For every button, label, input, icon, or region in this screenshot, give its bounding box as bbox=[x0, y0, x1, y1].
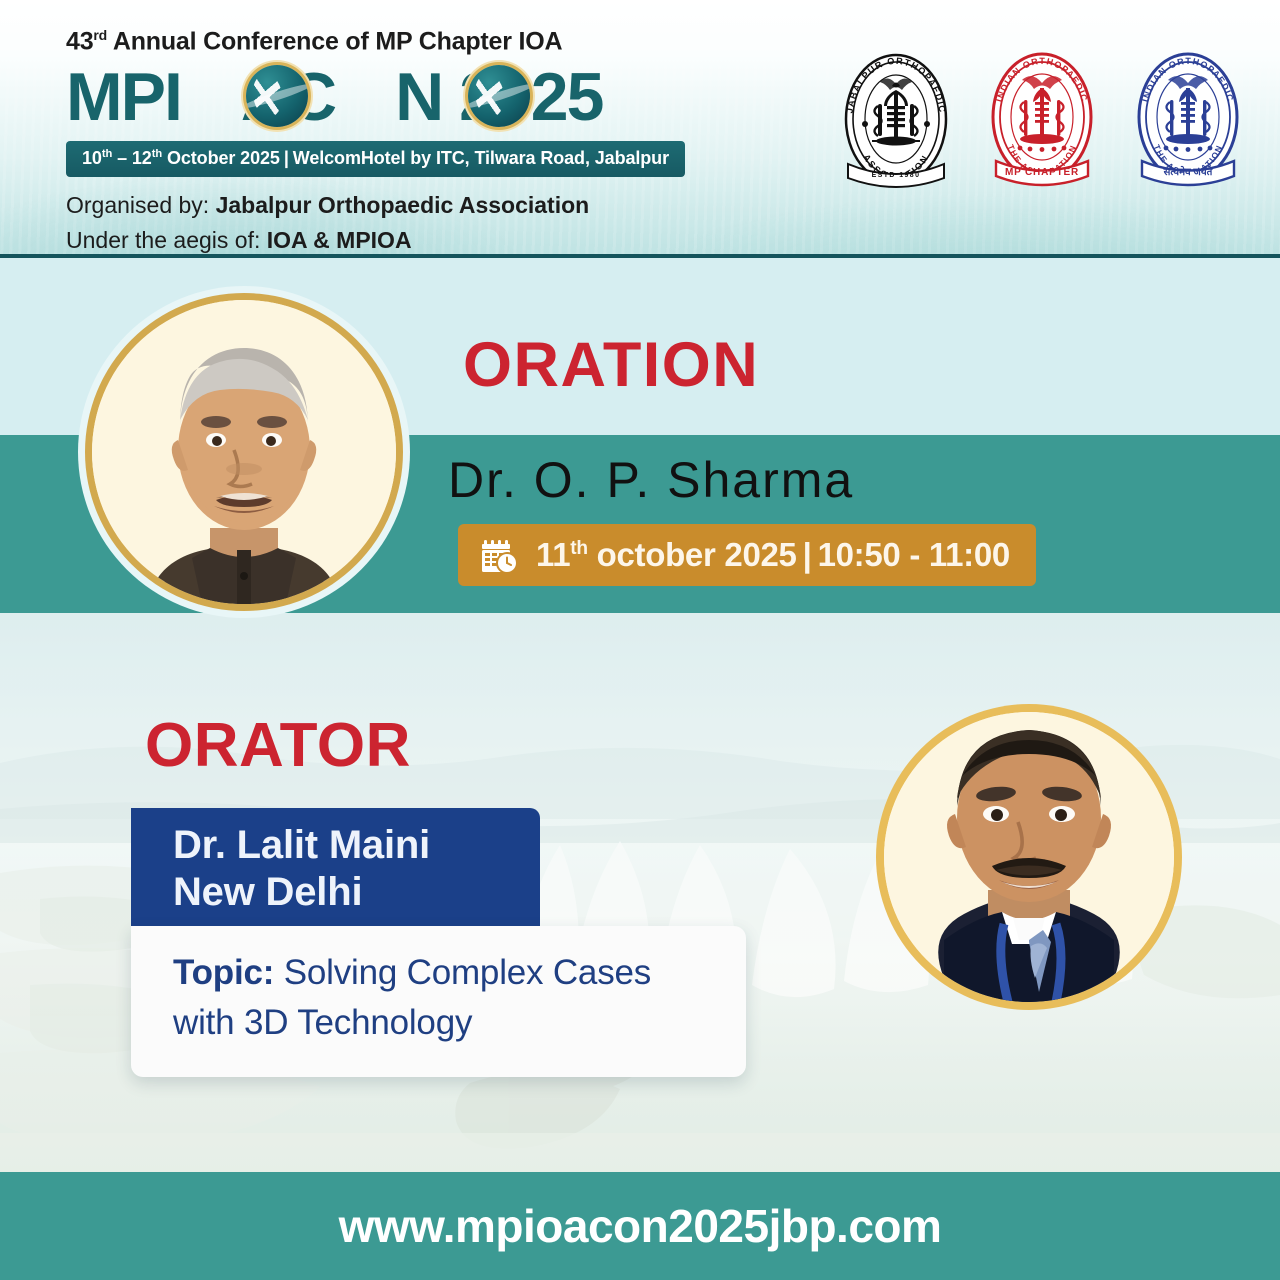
oration-date-time-text: 11th october 2025|10:50 - 11:00 bbox=[536, 536, 1010, 574]
conference-number: 43 bbox=[66, 27, 93, 55]
organised-by-line: Organised by: Jabalpur Orthopaedic Assoc… bbox=[66, 189, 756, 222]
venue-name: WelcomHotel by ITC, Tilwara Road, Jabalp… bbox=[293, 148, 669, 168]
avatar-dr-op-sharma bbox=[92, 300, 396, 604]
globe-runner-icon-1 bbox=[246, 65, 308, 127]
oration-date-time-badge: 11th october 2025|10:50 - 11:00 bbox=[458, 524, 1036, 586]
indian-orthopaedic-association-seal-icon: INDIAN ORTHOPAEDIC THE ASSOCIATION bbox=[1126, 46, 1250, 206]
venue-separator: | bbox=[280, 148, 293, 169]
organisation-seals: JABALPUR ORTHOPAEDIC ASSOCIATION bbox=[834, 46, 1250, 206]
svg-text:MP CHAPTER: MP CHAPTER bbox=[1005, 167, 1079, 178]
event-logo-wordmark: MPIACN 2025 bbox=[66, 60, 756, 134]
conference-number-suffix: rd bbox=[93, 27, 107, 43]
orator-name: Dr. Lalit Maini bbox=[173, 822, 514, 869]
seal-indian-orthopaedic-association: INDIAN ORTHOPAEDIC THE ASSOCIATION bbox=[1126, 46, 1250, 206]
svg-text:ESTD 1980: ESTD 1980 bbox=[872, 172, 921, 179]
seal-jabalpur-orthopaedic-association: JABALPUR ORTHOPAEDIC ASSOCIATION bbox=[834, 46, 958, 206]
ioa-mp-chapter-seal-icon: INDIAN ORTHOPAEDIC THE ASSOCIATION bbox=[980, 46, 1104, 206]
oration-date-separator: | bbox=[797, 536, 818, 573]
conference-poster: 43rd Annual Conference of MP Chapter IOA… bbox=[0, 0, 1280, 1280]
topic-text-line1: Solving Complex Cases bbox=[274, 953, 651, 992]
poster-header: 43rd Annual Conference of MP Chapter IOA… bbox=[0, 0, 1280, 258]
orator-city: New Delhi bbox=[173, 869, 514, 916]
avatar-dr-lalit-maini bbox=[884, 712, 1174, 1002]
svg-text:सत्यमेव जयते: सत्यमेव जयते bbox=[1163, 165, 1214, 178]
orator-section-title: ORATOR bbox=[145, 715, 411, 777]
orator-topic-card: Topic: Solving Complex Cases with 3D Tec… bbox=[131, 926, 746, 1077]
globe-runner-icon-2 bbox=[468, 65, 530, 127]
portrait-dr-lalit-maini-illustration bbox=[884, 678, 1174, 1002]
header-text-block: 43rd Annual Conference of MP Chapter IOA… bbox=[66, 28, 756, 258]
date-month-year: October 2025 bbox=[162, 148, 280, 168]
date-dash: – bbox=[112, 148, 132, 168]
poster-footer: www.mpioacon2025jbp.com bbox=[0, 1172, 1280, 1280]
oration-person-name: Dr. O. P. Sharma bbox=[448, 455, 854, 505]
portrait-dr-lalit-maini-wrap bbox=[884, 678, 1174, 1002]
seal-ioa-mp-chapter: INDIAN ORTHOPAEDIC THE ASSOCIATION bbox=[980, 46, 1104, 206]
organised-by-value: Jabalpur Orthopaedic Association bbox=[216, 192, 590, 218]
orator-topic-line-1: Topic: Solving Complex Cases bbox=[173, 948, 716, 998]
topic-label: Topic: bbox=[173, 953, 274, 992]
orator-topic-line-2: with 3D Technology bbox=[173, 998, 716, 1048]
conference-edition-line: 43rd Annual Conference of MP Chapter IOA bbox=[66, 28, 756, 56]
orator-name-card: Dr. Lalit Maini New Delhi bbox=[131, 808, 540, 932]
date-to: 12 bbox=[132, 148, 152, 168]
portrait-dr-op-sharma-illustration bbox=[92, 300, 396, 604]
aegis-label: Under the aegis of: bbox=[66, 227, 267, 253]
logo-text-part1: MPI bbox=[66, 59, 181, 135]
oration-day-suffix: th bbox=[570, 538, 587, 559]
organised-by-label: Organised by: bbox=[66, 192, 216, 218]
website-url[interactable]: www.mpioacon2025jbp.com bbox=[339, 1199, 942, 1253]
date-to-suffix: th bbox=[152, 148, 162, 160]
oration-month-year: october 2025 bbox=[588, 536, 797, 573]
conference-title-rest: Annual Conference of MP Chapter IOA bbox=[107, 27, 562, 55]
jabalpur-orthopaedic-association-seal-icon: JABALPUR ORTHOPAEDIC ASSOCIATION bbox=[834, 46, 958, 206]
date-from-suffix: th bbox=[102, 148, 112, 160]
oration-time-range: 10:50 - 11:00 bbox=[818, 536, 1010, 573]
calendar-clock-icon bbox=[480, 535, 520, 575]
date-from: 10 bbox=[82, 148, 102, 168]
oration-day: 11 bbox=[536, 536, 570, 573]
date-venue-bar: 10th – 12th October 2025|WelcomHotel by … bbox=[66, 141, 685, 177]
oration-section-title: ORATION bbox=[463, 334, 759, 397]
aegis-value: IOA & MPIOA bbox=[267, 227, 412, 253]
aegis-line: Under the aegis of: IOA & MPIOA bbox=[66, 224, 756, 257]
